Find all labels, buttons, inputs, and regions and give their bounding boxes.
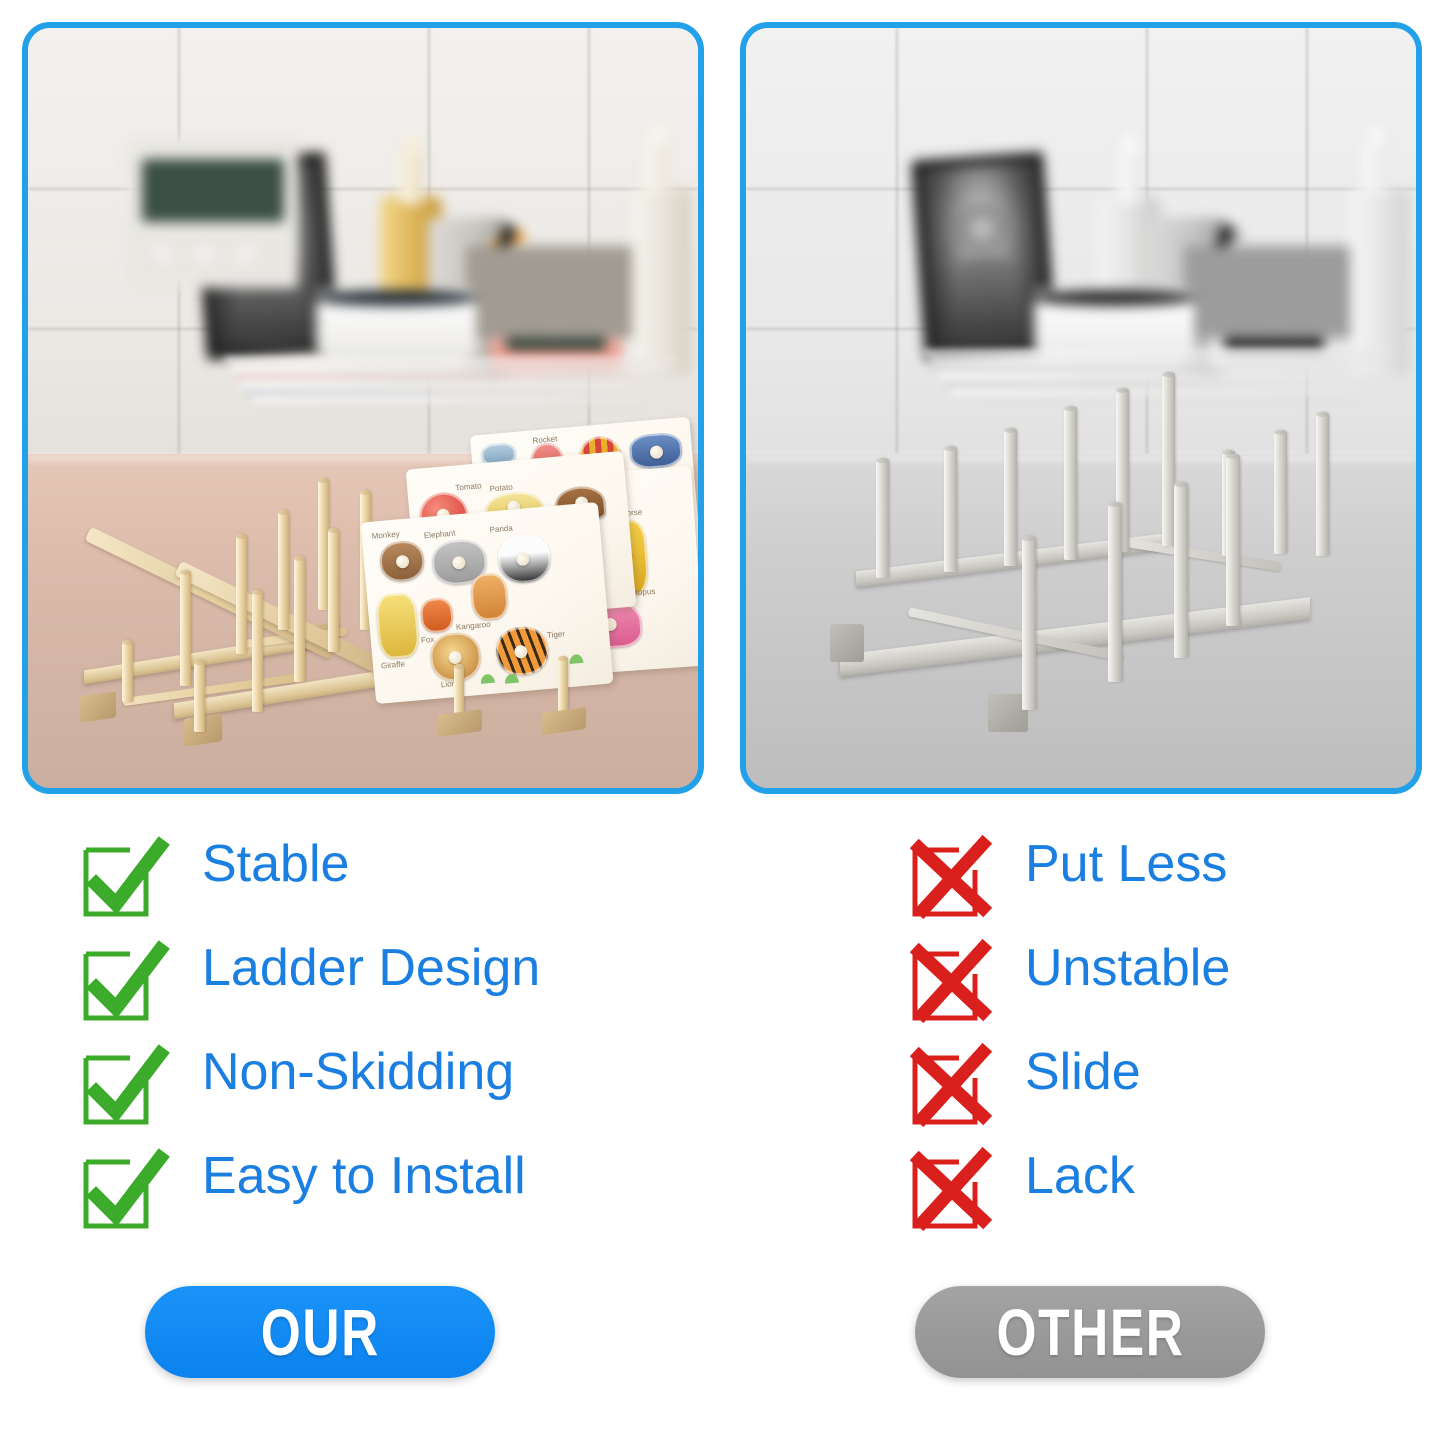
- feature-row-ladder-design: Ladder Design: [86, 904, 540, 1008]
- open-magazine: [224, 358, 676, 410]
- feature-row-non-skidding: Non-Skidding: [86, 1008, 540, 1112]
- rack-dowel-f1: [194, 660, 205, 732]
- bottle-neck-clear: [645, 140, 667, 194]
- other-foot-left: [830, 624, 864, 662]
- check-icon: [86, 1056, 146, 1118]
- feature-label: Stable: [202, 838, 349, 890]
- bottle-tip-clear-other: [1368, 124, 1384, 146]
- feature-label: Slide: [1025, 1046, 1141, 1098]
- our-badge-label: OUR: [260, 1294, 379, 1370]
- other-dowel-b3: [1004, 428, 1017, 566]
- bottle-tip-clear: [650, 124, 666, 146]
- other-dowel-b1: [876, 458, 889, 578]
- other-dowel-f4: [1226, 454, 1240, 626]
- feature-label: Easy to Install: [202, 1150, 526, 1202]
- bottle-tip-amber: [404, 132, 420, 154]
- cross-icon: [915, 952, 975, 1014]
- check-icon: [86, 952, 146, 1014]
- feature-label: Put Less: [1025, 838, 1227, 890]
- product-comparison-photos: 14:33: [0, 0, 1445, 800]
- feature-label: Ladder Design: [202, 942, 540, 994]
- check-icon: [86, 848, 146, 910]
- other-badge-label: OTHER: [996, 1294, 1184, 1370]
- kitchen-appliance: [128, 138, 298, 288]
- our-badge: OUR: [145, 1286, 495, 1378]
- other-feature-list: Put Less Unstable Slide: [915, 800, 1230, 1216]
- feature-label: Non-Skidding: [202, 1046, 514, 1098]
- rack-dowel-f3: [294, 556, 305, 682]
- bottle-neck-amber: [400, 148, 422, 204]
- puzzle-board-animals: Monkey Elephant Panda Kangaroo Giraffe F…: [361, 502, 614, 704]
- bottle-neck-white: [1118, 148, 1140, 204]
- feature-row-easy-to-install: Easy to Install: [86, 1112, 540, 1216]
- feature-row-lack: Lack: [915, 1112, 1230, 1216]
- feature-row-stable: Stable: [86, 800, 540, 904]
- feature-comparison-lists: Stable Ladder Design Non-Skidding: [0, 800, 1445, 1270]
- our-product-photo-panel: 14:33: [22, 22, 704, 794]
- other-dowel-b2: [944, 446, 957, 572]
- card-stand-foot-right: [542, 707, 586, 735]
- feature-row-slide: Slide: [915, 1008, 1230, 1112]
- other-badge: OTHER: [915, 1286, 1265, 1378]
- rack-dowel-f4: [328, 528, 339, 652]
- other-dowel-f3: [1174, 482, 1188, 658]
- comparison-badges: OUR OTHER: [0, 1278, 1445, 1398]
- bottle-neck-clear-other: [1363, 140, 1385, 194]
- cross-icon: [915, 1160, 975, 1222]
- piece-giraffe: [375, 592, 420, 659]
- other-dowel-b4: [1064, 406, 1077, 560]
- rack-dowel-b1: [122, 640, 133, 702]
- other-dowel-b9: [1316, 412, 1329, 556]
- rack-dowel-b3: [236, 534, 247, 654]
- rack-dowel-b2: [180, 570, 191, 686]
- wooden-ladder-rack: [66, 438, 396, 738]
- bottle-tip-white: [1122, 132, 1138, 154]
- feature-label: Unstable: [1025, 942, 1230, 994]
- rack-foot-left: [80, 691, 116, 722]
- clear-squeeze-bottle: [632, 188, 692, 378]
- card-stand-foot-left: [438, 709, 482, 737]
- other-product-photo-panel: 14:33: [740, 22, 1422, 794]
- other-dowel-b8: [1274, 430, 1287, 554]
- wooden-flat-rack: [822, 368, 1362, 788]
- feature-label: Lack: [1025, 1150, 1135, 1202]
- our-feature-list: Stable Ladder Design Non-Skidding: [86, 800, 540, 1216]
- cross-icon: [915, 1056, 975, 1118]
- cross-icon: [915, 848, 975, 910]
- other-dowel-f2: [1108, 502, 1122, 682]
- feature-row-unstable: Unstable: [915, 904, 1230, 1008]
- other-cross-member-2: [1122, 538, 1281, 572]
- rack-dowel-f2: [252, 590, 263, 712]
- piece-fox: [419, 597, 454, 634]
- piece-kangaroo: [470, 572, 510, 621]
- rack-dowel-b4: [278, 510, 289, 630]
- wooden-puzzle-boards: UFO Rocket Airplane Dolphin: [368, 420, 698, 750]
- check-icon: [86, 1160, 146, 1222]
- other-dowel-f1: [1022, 536, 1036, 710]
- feature-row-put-less: Put Less: [915, 800, 1230, 904]
- other-photo-scene: 14:33: [746, 28, 1416, 788]
- our-photo-scene: 14:33: [28, 28, 698, 788]
